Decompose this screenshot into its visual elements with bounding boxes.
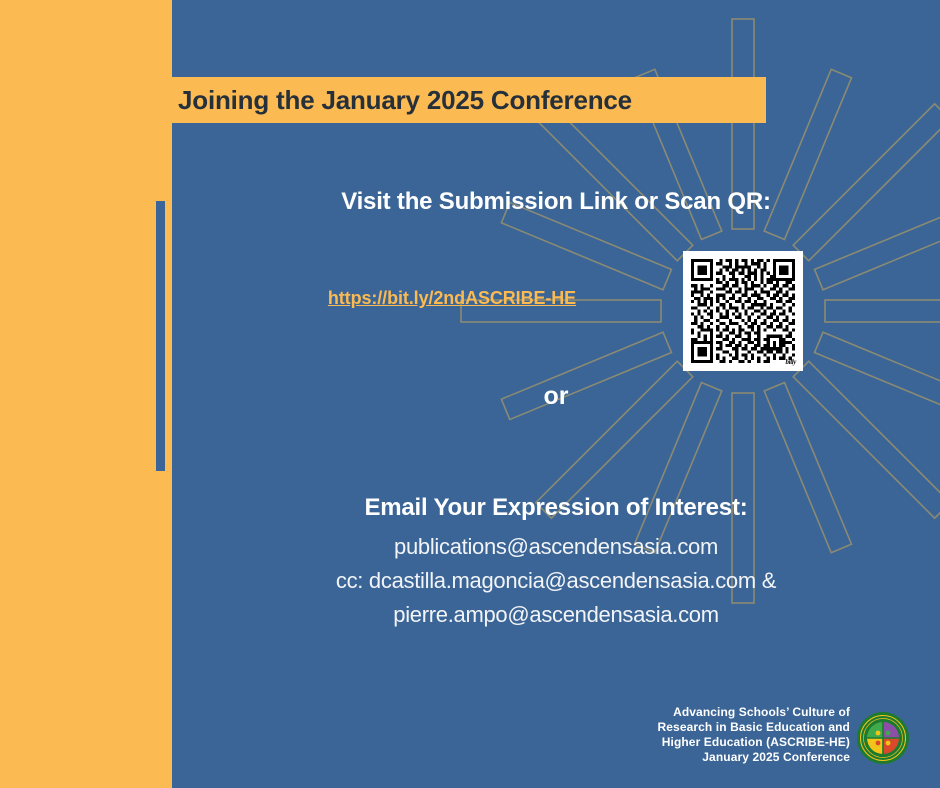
qr-code[interactable]: bitly — [683, 251, 803, 371]
email-address-cc-1: cc: dcastilla.magoncia@ascendensasia.com… — [172, 564, 940, 598]
or-separator-label: or — [172, 382, 940, 411]
footer-conference-name: Advancing Schools’ Culture of Research i… — [560, 705, 850, 765]
submission-link[interactable]: https://bit.ly/2ndASCRIBE-HE — [172, 288, 732, 309]
main-content: Visit the Submission Link or Scan QR: ht… — [172, 0, 940, 788]
footer-line-2: Research in Basic Education and — [560, 720, 850, 735]
visit-heading: Visit the Submission Link or Scan QR: — [172, 188, 940, 216]
sidebar-accent-bar — [156, 201, 165, 471]
qr-code-matrix — [691, 259, 795, 363]
footer-line-1: Advancing Schools’ Culture of — [560, 705, 850, 720]
email-address-list: publications@ascendensasia.com cc: dcast… — [172, 530, 940, 632]
email-heading: Email Your Expression of Interest: — [172, 494, 940, 522]
ascendens-asia-logo — [856, 711, 910, 765]
footer-line-4: January 2025 Conference — [560, 750, 850, 765]
bitly-brand-label: bitly — [786, 358, 796, 366]
email-address-cc-2: pierre.ampo@ascendensasia.com — [172, 598, 940, 632]
conference-slide: Joining the January 2025 Conference Visi… — [0, 0, 940, 788]
email-address-primary: publications@ascendensasia.com — [172, 530, 940, 564]
footer-line-3: Higher Education (ASCRIBE-HE) — [560, 735, 850, 750]
